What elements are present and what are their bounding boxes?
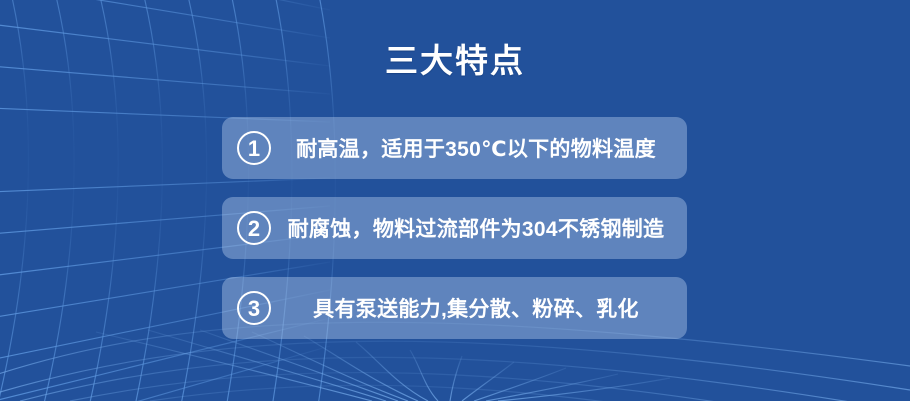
circled-number-icon: 2	[237, 211, 271, 245]
list-item[interactable]: 3 具有泵送能力,集分散、粉碎、乳化	[222, 277, 687, 339]
feature-text: 耐腐蚀，物料过流部件为304不锈钢制造	[271, 213, 687, 243]
list-item[interactable]: 2 耐腐蚀，物料过流部件为304不锈钢制造	[222, 197, 687, 259]
feature-text: 具有泵送能力,集分散、粉碎、乳化	[271, 293, 687, 323]
list-item[interactable]: 1 耐高温，适用于350℃以下的物料温度	[222, 117, 687, 179]
feature-list: 1 耐高温，适用于350℃以下的物料温度 2 耐腐蚀，物料过流部件为304不锈钢…	[222, 117, 687, 339]
circled-number-icon: 1	[237, 131, 271, 165]
feature-text: 耐高温，适用于350℃以下的物料温度	[271, 133, 687, 163]
feature-banner: 三大特点 1 耐高温，适用于350℃以下的物料温度 2 耐腐蚀，物料过流部件为3…	[0, 0, 910, 401]
circled-number-icon: 3	[237, 291, 271, 325]
page-title: 三大特点	[0, 41, 910, 81]
